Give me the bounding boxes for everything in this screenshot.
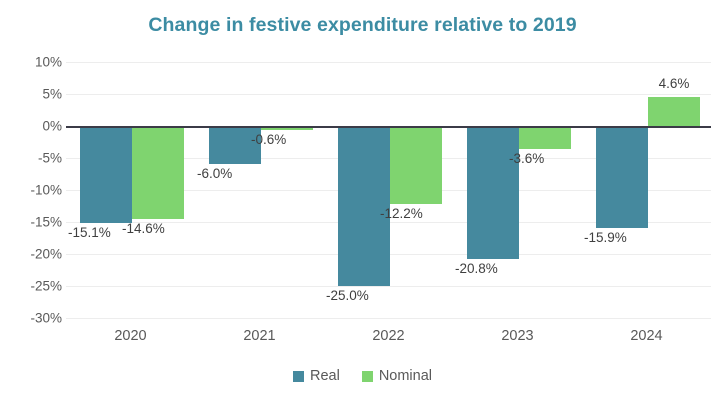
x-axis-tick-label-2021: 2021 [195, 328, 324, 344]
legend-swatch-real-icon [293, 371, 304, 382]
bar-real-2024[interactable] [596, 126, 648, 228]
y-axis-tick-label: -30% [4, 311, 62, 326]
x-axis-tick-label-2022: 2022 [324, 328, 453, 344]
bar-group: -6.0%-0.6% [195, 62, 324, 318]
bar-value-label: -12.2% [380, 206, 456, 221]
y-axis-tick-label: 5% [4, 87, 62, 102]
bar-value-label: -3.6% [509, 151, 585, 166]
bar-real-2023[interactable] [467, 126, 519, 259]
bar-value-label: 4.6% [642, 76, 706, 91]
chart-container: Change in festive expenditure relative t… [0, 0, 725, 406]
bar-group: -15.9%4.6% [582, 62, 711, 318]
x-axis-tick-label-2023: 2023 [453, 328, 582, 344]
bar-value-label: -20.8% [455, 261, 531, 276]
y-axis-tick-label: 0% [4, 119, 62, 134]
bar-group: -25.0%-12.2% [324, 62, 453, 318]
bar-group: -15.1%-14.6% [66, 62, 195, 318]
zero-axis-line [66, 126, 711, 128]
chart-title: Change in festive expenditure relative t… [0, 14, 725, 37]
x-axis-tick-label-2020: 2020 [66, 328, 195, 344]
y-axis-tick-label: -25% [4, 279, 62, 294]
y-axis-tick-label: -10% [4, 183, 62, 198]
legend-item-nominal[interactable]: Nominal [362, 368, 432, 384]
x-axis: 20202021202220232024 [66, 320, 711, 352]
bar-value-label: -25.0% [326, 288, 402, 303]
bar-value-label: -14.6% [122, 221, 198, 236]
bar-value-label: -6.0% [197, 166, 273, 181]
y-axis-tick-label: 10% [4, 55, 62, 70]
x-axis-tick-label-2024: 2024 [582, 328, 711, 344]
legend-label-real: Real [310, 368, 340, 384]
bar-nominal-2022[interactable] [390, 126, 442, 204]
bar-value-label: -15.9% [584, 230, 660, 245]
bar-value-label: -0.6% [251, 132, 327, 147]
bar-nominal-2024[interactable] [648, 97, 700, 126]
y-axis-tick-label: -20% [4, 247, 62, 262]
bar-group: -20.8%-3.6% [453, 62, 582, 318]
legend-item-real[interactable]: Real [293, 368, 340, 384]
legend-label-nominal: Nominal [379, 368, 432, 384]
plot-area: -15.1%-14.6%-6.0%-0.6%-25.0%-12.2%-20.8%… [66, 62, 711, 318]
bar-nominal-2020[interactable] [132, 126, 184, 219]
legend-swatch-nominal-icon [362, 371, 373, 382]
bar-nominal-2023[interactable] [519, 126, 571, 149]
y-axis: 10%5%0%-5%-10%-15%-20%-25%-30% [0, 62, 62, 318]
y-axis-tick-label: -15% [4, 215, 62, 230]
chart-legend: Real Nominal [0, 368, 725, 384]
y-axis-tick-label: -5% [4, 151, 62, 166]
gridline [66, 318, 711, 319]
bar-real-2020[interactable] [80, 126, 132, 223]
